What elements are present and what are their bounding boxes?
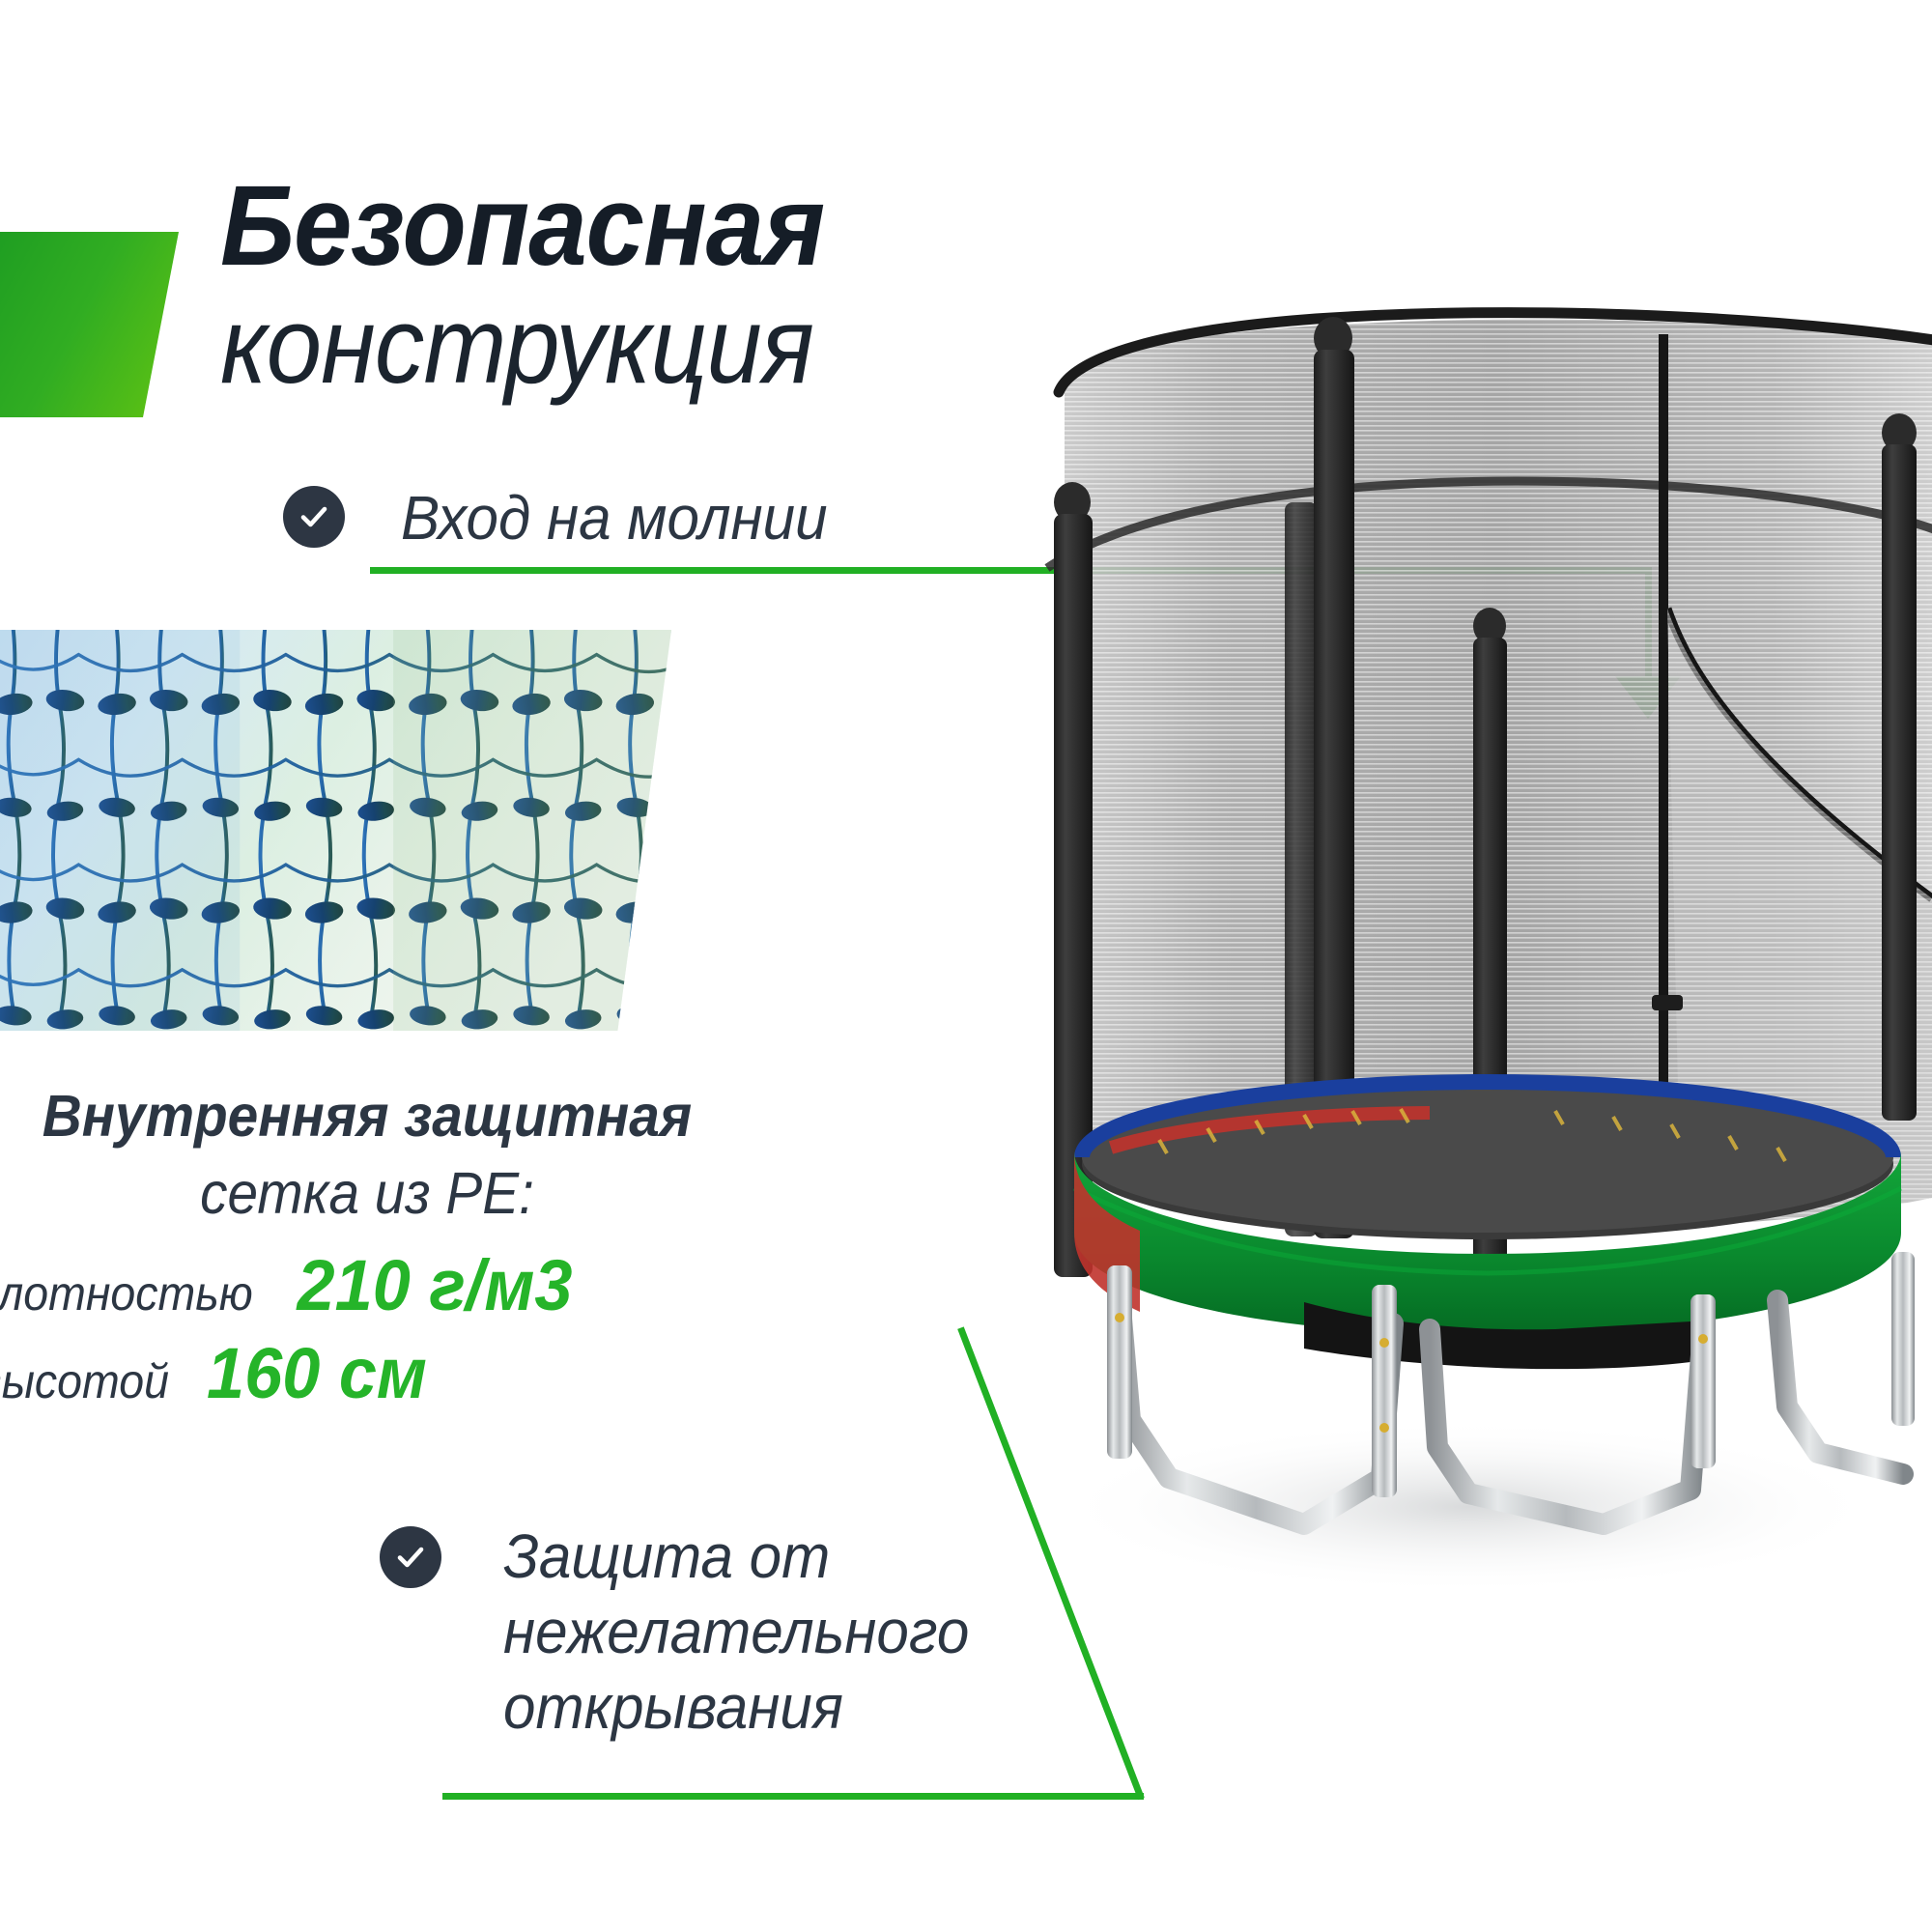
spec-line-1: Внутренняя защитная bbox=[26, 1082, 709, 1150]
spec-density-value: 210 г/м3 bbox=[298, 1244, 573, 1326]
bullet-protection-label: Защита от нежелательного открывания bbox=[503, 1519, 969, 1745]
net-closeup-photo bbox=[0, 630, 671, 1031]
spec-row-density: с плотностью 210 г/м3 bbox=[0, 1244, 734, 1326]
title-line-1: Безопасная bbox=[220, 172, 1065, 281]
title-line-2: конструкция bbox=[220, 289, 1065, 403]
bullet-protection: Защита от нежелательного открывания bbox=[380, 1526, 999, 1745]
check-circle-icon bbox=[380, 1526, 441, 1588]
spec-row-height: высотой 160 см bbox=[0, 1332, 734, 1414]
trampoline-product-image bbox=[1014, 222, 1932, 1652]
infographic-canvas: Безопасная конструкция Вход на молнии bbox=[0, 0, 1932, 1932]
net-knot-pattern bbox=[0, 630, 671, 1031]
spec-density-label: с плотностью bbox=[0, 1265, 253, 1321]
spec-block: Внутренняя защитная сетка из PE: с плотн… bbox=[0, 1082, 734, 1414]
connector-line-bottom-horizontal bbox=[442, 1793, 1144, 1800]
bullet-zip-entry-label: Вход на молнии bbox=[401, 480, 828, 555]
bullet-zip-entry: Вход на молнии bbox=[283, 486, 855, 555]
spec-height-value: 160 см bbox=[207, 1332, 427, 1414]
accent-tab bbox=[0, 232, 179, 417]
page-title: Безопасная конструкция bbox=[220, 172, 1138, 403]
spec-line-2: сетка из PE: bbox=[26, 1159, 709, 1227]
check-circle-icon bbox=[283, 486, 345, 548]
spec-height-label: высотой bbox=[0, 1353, 169, 1409]
